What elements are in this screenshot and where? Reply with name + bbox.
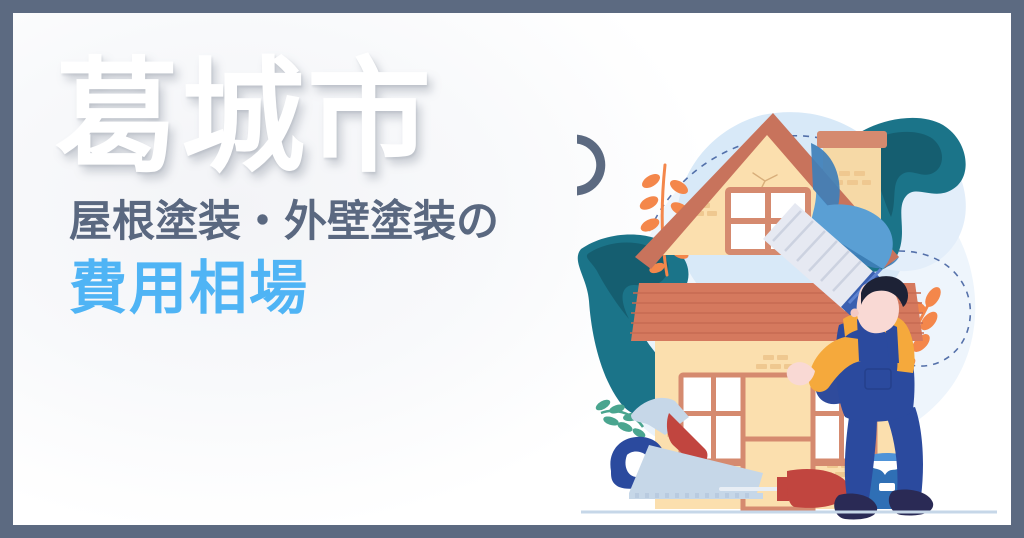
- house-painting-illustration: [577, 25, 1011, 525]
- ring-decoration: [577, 139, 601, 195]
- banner-card: 葛城市 屋根塗装・外壁塗装の 費用相場: [13, 13, 1011, 525]
- banner-root: 葛城市 屋根塗装・外壁塗装の 費用相場: [0, 0, 1024, 538]
- heading-block: 葛城市 屋根塗装・外壁塗装の 費用相場: [55, 53, 615, 320]
- subtitle-service: 屋根塗装・外壁塗装の: [69, 198, 615, 246]
- page-title-city: 葛城市: [55, 53, 615, 184]
- subtitle-price-range: 費用相場: [69, 257, 615, 321]
